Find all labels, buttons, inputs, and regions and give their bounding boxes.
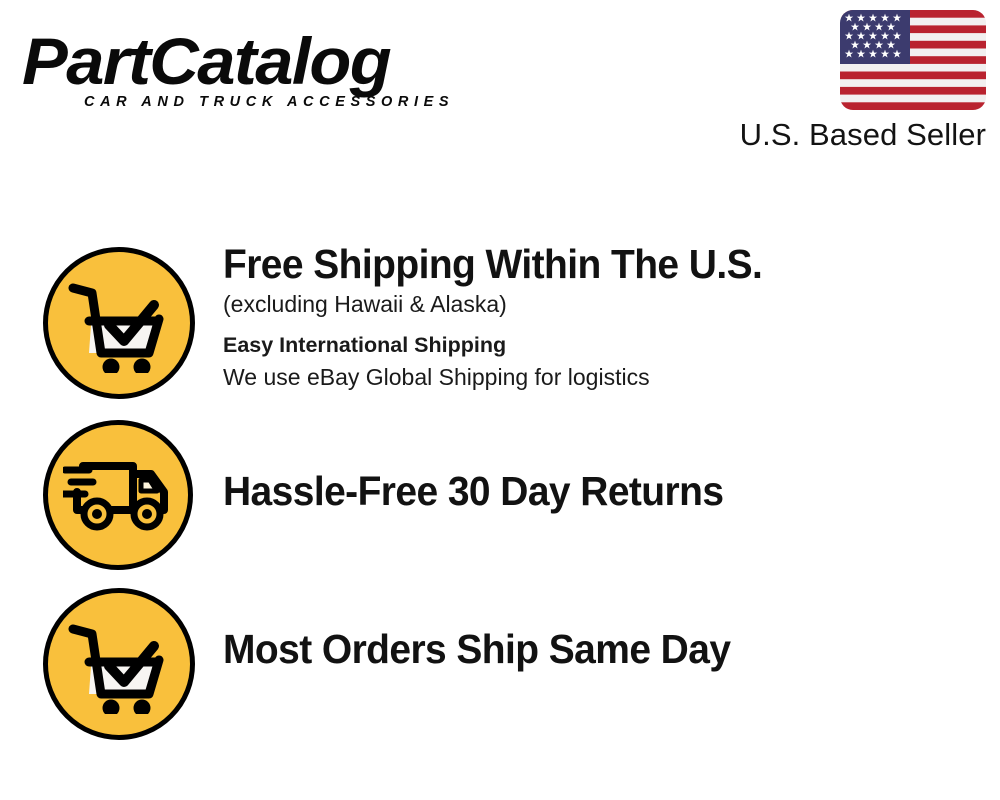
feature-title: Free Shipping Within The U.S. [223, 240, 942, 288]
feature-text-block: Most Orders Ship Same Day [223, 625, 980, 673]
promo-banner: PartCatalog CAR AND TRUCK ACCESSORIES [0, 0, 1000, 800]
feature-text-block: Hassle-Free 30 Day Returns [223, 467, 980, 515]
feature-subtext-international-heading: Easy International Shipping [223, 321, 980, 361]
shopping-cart-check-icon [43, 588, 195, 740]
feature-subtext-ebay-logistics: We use eBay Global Shipping for logistic… [223, 361, 980, 393]
feature-row: Free Shipping Within The U.S. (excluding… [0, 240, 1000, 415]
feature-row: Most Orders Ship Same Day [0, 583, 1000, 748]
feature-subtext-excluding: (excluding Hawaii & Alaska) [223, 288, 980, 321]
feature-list: Free Shipping Within The U.S. (excluding… [0, 0, 1000, 800]
feature-text-block: Free Shipping Within The U.S. (excluding… [223, 240, 980, 393]
feature-title: Most Orders Ship Same Day [223, 625, 942, 673]
feature-row: Hassle-Free 30 Day Returns [0, 415, 1000, 575]
shopping-cart-check-icon [43, 247, 195, 399]
feature-title: Hassle-Free 30 Day Returns [223, 467, 942, 515]
delivery-truck-icon [43, 420, 193, 570]
